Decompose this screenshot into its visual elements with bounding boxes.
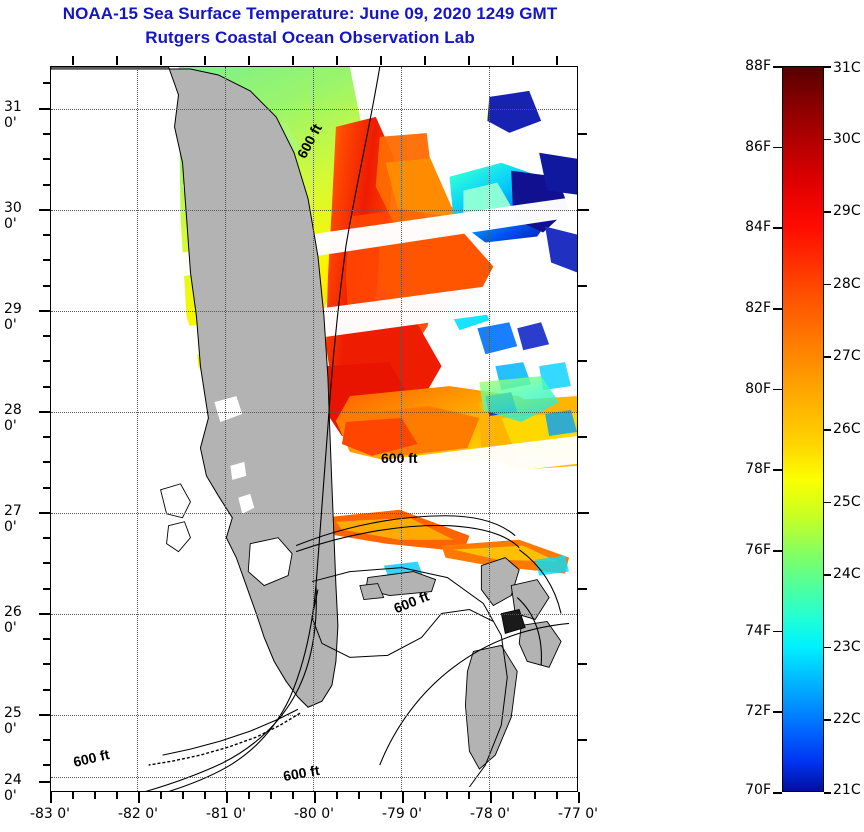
x-tick-minor [270,792,272,799]
cb-label-c-27: 27C [833,348,861,364]
y-tick-major-29 [39,310,50,312]
gridline-lat-30 [51,210,577,211]
x-tick-minor [446,792,448,799]
y-tick-major-25 [39,714,50,716]
y-tick-minor [43,562,50,564]
y-tick-minor [43,259,50,261]
y-tick-minor [43,689,50,691]
sst-map-plot[interactable]: 600 ft 600 ft 600 ft 600 ft 600 ft [50,66,578,792]
y-axis-label-24: 24 0' [4,772,22,804]
y-tick-major-24 [39,781,50,783]
cb-tick-c-26 [824,429,831,431]
x-tick-major--79 [402,792,404,803]
y-tick-major-27 [39,512,50,514]
x-tick-minor [204,792,206,799]
x-axis-label--78: -78 0' [470,806,510,822]
cb-tick-f-72 [773,711,782,713]
y-tick-minor [43,158,50,160]
y-tick-right-major [578,512,589,514]
cb-label-c-26: 26C [833,421,861,437]
cb-label-c-31: 31C [833,60,861,76]
x-tick-major--80 [314,792,316,803]
cb-label-c-22: 22C [833,711,861,727]
cb-tick-c-28 [824,284,831,286]
contour-label-600ft-2: 600 ft [381,450,418,466]
y-axis-label-29: 29 0' [4,301,22,333]
map-clip: 600 ft 600 ft 600 ft 600 ft 600 ft [51,67,577,791]
y-tick-minor [43,638,50,640]
x-axis-label--82: -82 0' [118,806,158,822]
y-tick-minor [43,335,50,337]
y-tick-minor [43,184,50,186]
cb-label-c-25: 25C [833,494,861,510]
y-tick-right-major [578,209,589,211]
cb-label-f-78: 78F [745,461,771,477]
x-axis-label--77: -77 0' [558,806,598,822]
y-tick-right [578,663,587,665]
cb-tick-f-74 [773,631,782,633]
cb-tick-f-80 [773,389,782,391]
x-tick-minor [94,792,96,799]
cb-label-c-29: 29C [833,203,861,219]
x-tick-major--81 [226,792,228,803]
cb-tick-c-21 [824,792,831,794]
y-tick-right [578,739,587,741]
y-tick-right [578,133,587,135]
y-tick-minor [43,663,50,665]
y-tick-minor [43,82,50,84]
temperature-colorbar-group[interactable]: 88F 86F 84F 82F 80F 78F 76F 74F 72F 70F … [782,66,824,792]
cb-tick-c-31 [824,66,831,68]
x-tick-major--77 [578,792,580,803]
x-tick-top [380,56,382,65]
x-tick-top [160,56,162,65]
y-tick-minor [43,537,50,539]
x-tick-minor [182,792,184,799]
gridline-lon--81 [225,67,226,791]
x-tick-minor [72,792,74,799]
cb-tick-f-76 [773,550,782,552]
cb-label-c-30: 30C [833,131,861,147]
x-tick-top [512,56,514,65]
y-tick-major-31 [39,108,50,110]
cb-label-f-88: 88F [745,58,771,74]
y-tick-right [578,360,587,362]
y-tick-major-28 [39,411,50,413]
cb-tick-c-23 [824,647,831,649]
x-tick-top [424,56,426,65]
cb-tick-f-86 [773,147,782,149]
x-tick-minor [380,792,382,799]
x-tick-top [248,56,250,65]
page-title: NOAA-15 Sea Surface Temperature: June 09… [0,2,620,26]
y-tick-minor [43,739,50,741]
y-tick-minor [43,436,50,438]
y-tick-right [578,588,587,590]
cb-label-f-80: 80F [745,381,771,397]
gridline-lat-29 [51,311,577,312]
x-tick-major--83 [50,792,52,803]
x-tick-minor [336,792,338,799]
x-axis-label--80: -80 0' [294,806,334,822]
y-axis-label-30: 30 0' [4,200,22,232]
cb-label-c-28: 28C [833,276,861,292]
x-axis-label--81: -81 0' [206,806,246,822]
y-tick-minor [43,133,50,135]
cb-label-f-72: 72F [745,703,771,719]
cb-label-c-24: 24C [833,566,861,582]
gridline-lat-26 [51,614,577,615]
cb-label-f-74: 74F [745,623,771,639]
cb-tick-c-22 [824,719,831,721]
cb-tick-c-29 [824,211,831,213]
y-axis-label-26: 26 0' [4,604,22,636]
y-axis-label-25: 25 0' [4,705,22,737]
x-tick-minor [424,792,426,799]
x-tick-top [292,56,294,65]
cb-tick-f-88 [773,66,782,68]
x-tick-minor [512,792,514,799]
y-axis-label-31: 31 0' [4,99,22,131]
temperature-colorbar[interactable] [782,66,824,792]
cb-label-c-23: 23C [833,639,861,655]
gridline-lon--82 [137,67,138,791]
x-tick-major--78 [490,792,492,803]
cb-tick-c-25 [824,502,831,504]
cb-label-c-21: 21C [833,782,861,798]
x-tick-top [468,56,470,65]
y-tick-minor [43,588,50,590]
y-tick-major-30 [39,209,50,211]
cb-tick-f-82 [773,308,782,310]
cb-label-f-84: 84F [745,219,771,235]
x-tick-major--82 [138,792,140,803]
cb-tick-f-84 [773,227,782,229]
x-tick-minor [116,792,118,799]
cb-label-f-82: 82F [745,300,771,316]
gridline-lat-28 [51,412,577,413]
y-tick-minor [43,386,50,388]
cb-label-f-70: 70F [745,782,771,798]
x-tick-top [204,56,206,65]
x-tick-top [72,56,74,65]
y-tick-major-26 [39,613,50,615]
x-tick-minor [468,792,470,799]
y-tick-minor [43,764,50,766]
cb-tick-f-78 [773,469,782,471]
x-tick-top [116,56,118,65]
y-tick-minor [43,487,50,489]
page-subtitle: Rutgers Coastal Ocean Observation Lab [0,26,620,50]
gridline-lat-25 [51,715,577,716]
gridline-lon--79 [401,67,402,791]
x-tick-minor [292,792,294,799]
y-tick-minor [43,461,50,463]
x-tick-minor [358,792,360,799]
depth-contour-layer [51,67,577,791]
cb-tick-f-70 [773,792,782,794]
y-tick-right [578,436,587,438]
y-tick-right [578,285,587,287]
y-tick-minor [43,360,50,362]
x-axis-label--83: -83 0' [30,806,70,822]
y-tick-minor [43,285,50,287]
y-axis-label-27: 27 0' [4,503,22,535]
gridline-lat-27 [51,513,577,514]
x-tick-top [556,56,558,65]
cb-tick-c-24 [824,574,831,576]
x-tick-top [336,56,338,65]
gridline-lon--80 [313,67,314,791]
x-tick-minor [556,792,558,799]
chart-title-block: NOAA-15 Sea Surface Temperature: June 09… [0,2,620,50]
cb-tick-c-27 [824,356,831,358]
x-axis-label--79: -79 0' [382,806,422,822]
gridline-lon--78 [489,67,490,791]
y-axis-label-28: 28 0' [4,402,22,434]
gridline-lat-31 [51,109,577,110]
y-tick-minor [43,234,50,236]
cb-label-f-86: 86F [745,139,771,155]
cb-label-f-76: 76F [745,542,771,558]
x-tick-minor [248,792,250,799]
x-tick-minor [160,792,162,799]
cb-tick-c-30 [824,139,831,141]
x-tick-minor [534,792,536,799]
